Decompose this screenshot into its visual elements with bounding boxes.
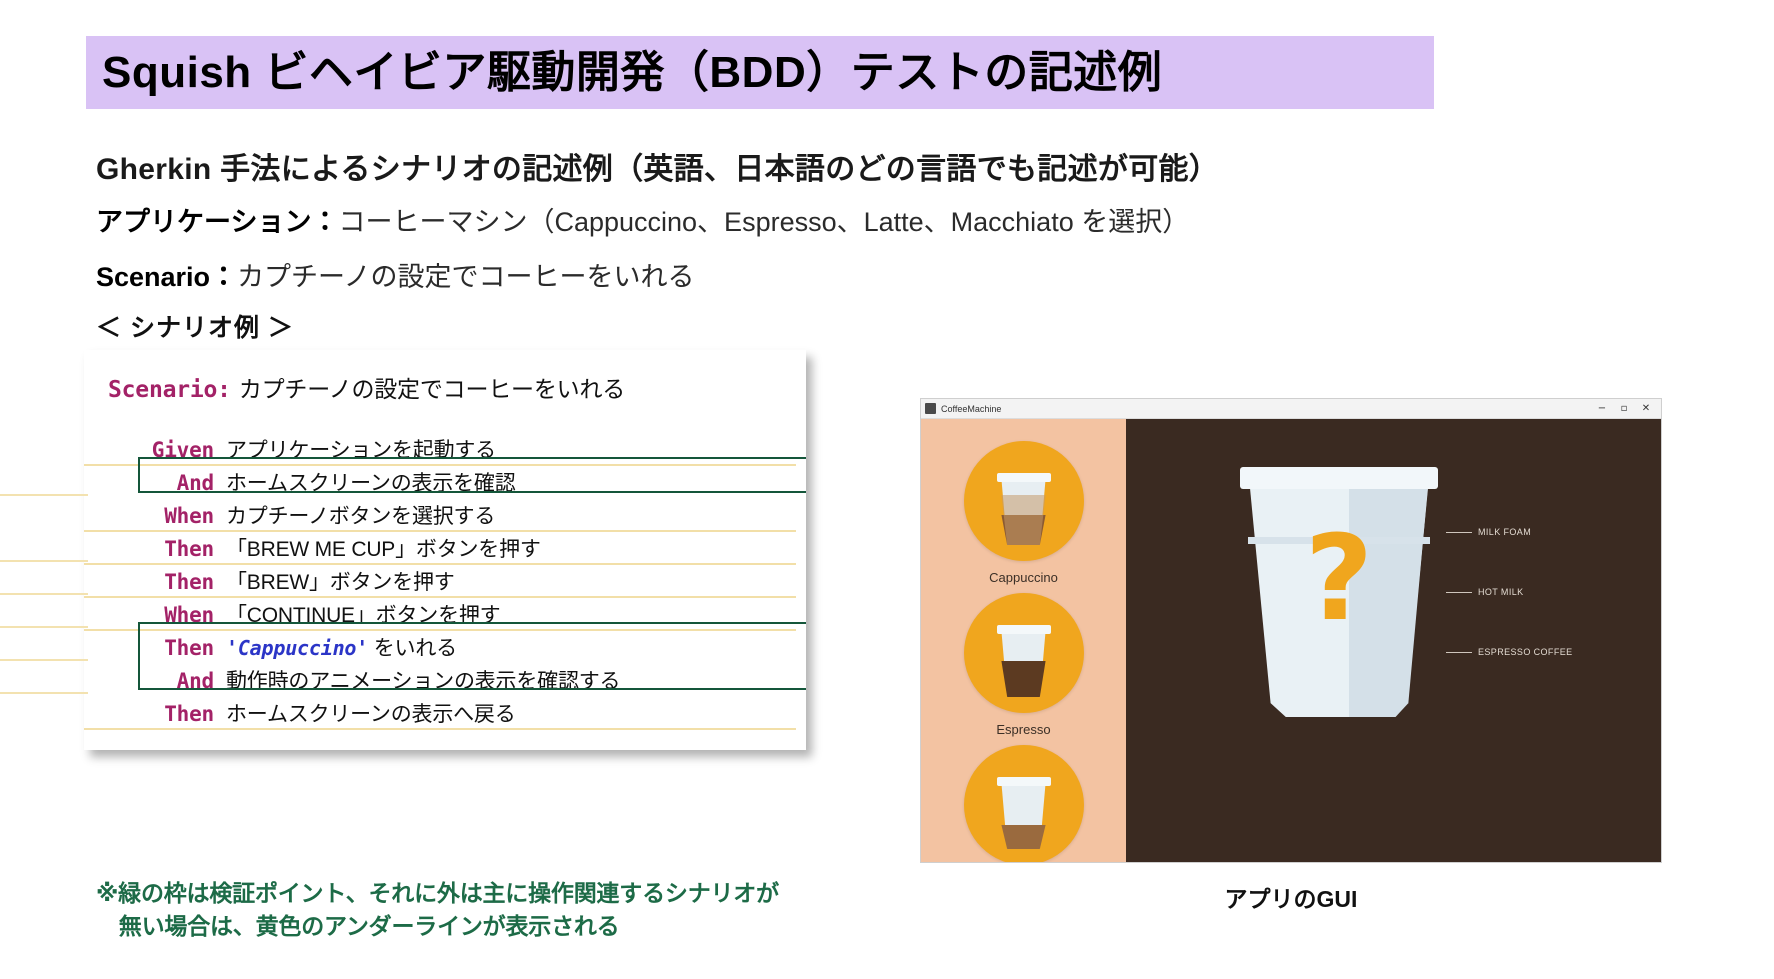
- gherkin-step-text: カプチーノボタンを選択する: [226, 500, 495, 530]
- slide-root: Squish ビヘイビア駆動開発（BDD）テストの記述例 Gherkin 手法に…: [0, 0, 1774, 979]
- gherkin-step-row: When 「CONTINUE」ボタンを押す: [84, 599, 806, 632]
- scenario-value: カプチーノの設定でコーヒーをいれる: [237, 262, 694, 292]
- gherkin-step-row: Then ホームスクリーンの表示へ戻る: [84, 698, 806, 731]
- app-gui-window: CoffeeMachine − ▫ ✕ Cappuccino: [920, 398, 1662, 863]
- gherkin-scenario-keyword: Scenario:: [94, 377, 239, 403]
- underline-gutter-stub: [0, 659, 88, 661]
- gherkin-step-text: ホームスクリーンの表示へ戻る: [226, 698, 516, 728]
- cup-icon: [996, 777, 1052, 849]
- gui-content: Cappuccino Espresso: [921, 419, 1661, 863]
- gherkin-step-text: 「BREW ME CUP」ボタンを押す: [226, 533, 541, 563]
- gherkin-step-text: 'Cappuccino' をいれる: [226, 632, 457, 662]
- gherkin-step-parameter: 'Cappuccino': [226, 636, 368, 660]
- drink-preview-panel: ? MILK FOAM HOT MILK ESPRESSO COFFEE: [1126, 419, 1661, 863]
- gherkin-step-row: And 動作時のアニメーションの表示を確認する: [84, 665, 806, 698]
- gherkin-code-body: Scenario: カプチーノの設定でコーヒーをいれる Given アプリケーシ…: [84, 350, 806, 750]
- gherkin-step-keyword: When: [94, 603, 226, 627]
- maximize-button[interactable]: ▫: [1613, 400, 1635, 418]
- drink-selector-panel: Cappuccino Espresso: [921, 419, 1126, 863]
- gherkin-step-text: 「CONTINUE」ボタンを押す: [226, 599, 500, 629]
- callout-label: MILK FOAM: [1478, 527, 1531, 537]
- drink-disc: [964, 745, 1084, 863]
- large-cup-graphic: ?: [1244, 467, 1434, 717]
- gherkin-step-row: Then 「BREW ME CUP」ボタンを押す: [84, 533, 806, 566]
- gherkin-step-text: 「BREW」ボタンを押す: [226, 566, 455, 596]
- drink-option-cappuccino[interactable]: Cappuccino: [921, 441, 1126, 585]
- callout-label: ESPRESSO COFFEE: [1478, 647, 1573, 657]
- drink-disc: [964, 593, 1084, 713]
- cup-icon: [996, 473, 1052, 545]
- application-line: アプリケーション：コーヒーマシン（Cappuccino、Espresso、Lat…: [96, 200, 1189, 239]
- gherkin-step-keyword: Then: [94, 537, 226, 561]
- gherkin-step-keyword: And: [94, 471, 226, 495]
- underline-gutter-stub: [0, 560, 88, 562]
- gherkin-step-keyword: Then: [94, 702, 226, 726]
- minimize-button[interactable]: −: [1591, 400, 1613, 418]
- scenario-label: Scenario：: [96, 262, 237, 292]
- drink-label: Espresso: [996, 722, 1050, 737]
- gherkin-step-keyword: Then: [94, 570, 226, 594]
- gherkin-step-keyword: And: [94, 669, 226, 693]
- footnote-line-2: 無い場合は、黄色のアンダーラインが表示される: [96, 913, 619, 939]
- gherkin-step-keyword: When: [94, 504, 226, 528]
- gui-title-bar: CoffeeMachine − ▫ ✕: [921, 399, 1661, 419]
- callout-hot-milk: HOT MILK: [1446, 587, 1524, 597]
- scenario-example-label: ＜ シナリオ例 ＞: [96, 308, 294, 344]
- gherkin-step-keyword: Given: [94, 438, 226, 462]
- drink-disc: [964, 441, 1084, 561]
- gherkin-step-row: And ホームスクリーンの表示を確認: [84, 467, 806, 500]
- gherkin-scenario-row: Scenario: カプチーノの設定でコーヒーをいれる: [84, 370, 806, 412]
- scenario-line: Scenario：カプチーノの設定でコーヒーをいれる: [96, 255, 694, 294]
- underline-gutter-stub: [0, 692, 88, 694]
- gherkin-heading: Gherkin 手法によるシナリオの記述例（英語、日本語のどの言語でも記述が可能…: [96, 144, 1219, 188]
- application-value: コーヒーマシン（Cappuccino、Espresso、Latte、Macchi…: [338, 207, 1189, 237]
- gherkin-step-text: ホームスクリーンの表示を確認: [226, 467, 516, 497]
- gherkin-step-suffix: をいれる: [368, 637, 457, 660]
- gherkin-code-card: Scenario: カプチーノの設定でコーヒーをいれる Given アプリケーシ…: [84, 350, 806, 750]
- cup-icon: [996, 625, 1052, 697]
- gherkin-spacer: [84, 412, 806, 434]
- gui-caption: アプリのGUI: [920, 880, 1662, 914]
- gherkin-step-text: 動作時のアニメーションの表示を確認する: [226, 665, 620, 695]
- underline-gutter-stub: [0, 626, 88, 628]
- underline-gutter-stub: [0, 593, 88, 595]
- gherkin-step-text: アプリケーションを起動する: [226, 434, 496, 464]
- application-label: アプリケーション：: [96, 207, 338, 237]
- page-title: Squish ビヘイビア駆動開発（BDD）テストの記述例: [86, 51, 1162, 95]
- gherkin-step-row: Then 'Cappuccino' をいれる: [84, 632, 806, 665]
- close-button[interactable]: ✕: [1635, 400, 1657, 418]
- gherkin-step-row: When カプチーノボタンを選択する: [84, 500, 806, 533]
- question-mark-icon: ?: [1244, 519, 1434, 637]
- drink-option-latte[interactable]: [921, 745, 1126, 863]
- gherkin-step-keyword: Then: [94, 636, 226, 660]
- gherkin-step-row: Given アプリケーションを起動する: [84, 434, 806, 467]
- footnote-note: ※緑の枠は検証ポイント、それに外は主に操作関連するシナリオが 無い場合は、黄色の…: [96, 877, 779, 944]
- footnote-line-1: ※緑の枠は検証ポイント、それに外は主に操作関連するシナリオが: [96, 880, 779, 906]
- underline-gutter-stub: [0, 494, 88, 496]
- app-icon: [925, 403, 936, 414]
- gherkin-scenario-text: カプチーノの設定でコーヒーをいれる: [239, 370, 625, 404]
- callout-milk-foam: MILK FOAM: [1446, 527, 1531, 537]
- gui-window-title: CoffeeMachine: [941, 404, 1591, 414]
- slide-title-band: Squish ビヘイビア駆動開発（BDD）テストの記述例: [86, 36, 1434, 109]
- callout-label: HOT MILK: [1478, 587, 1524, 597]
- gherkin-step-row: Then 「BREW」ボタンを押す: [84, 566, 806, 599]
- drink-label: Cappuccino: [989, 570, 1058, 585]
- callout-espresso-coffee: ESPRESSO COFFEE: [1446, 647, 1573, 657]
- drink-option-espresso[interactable]: Espresso: [921, 593, 1126, 737]
